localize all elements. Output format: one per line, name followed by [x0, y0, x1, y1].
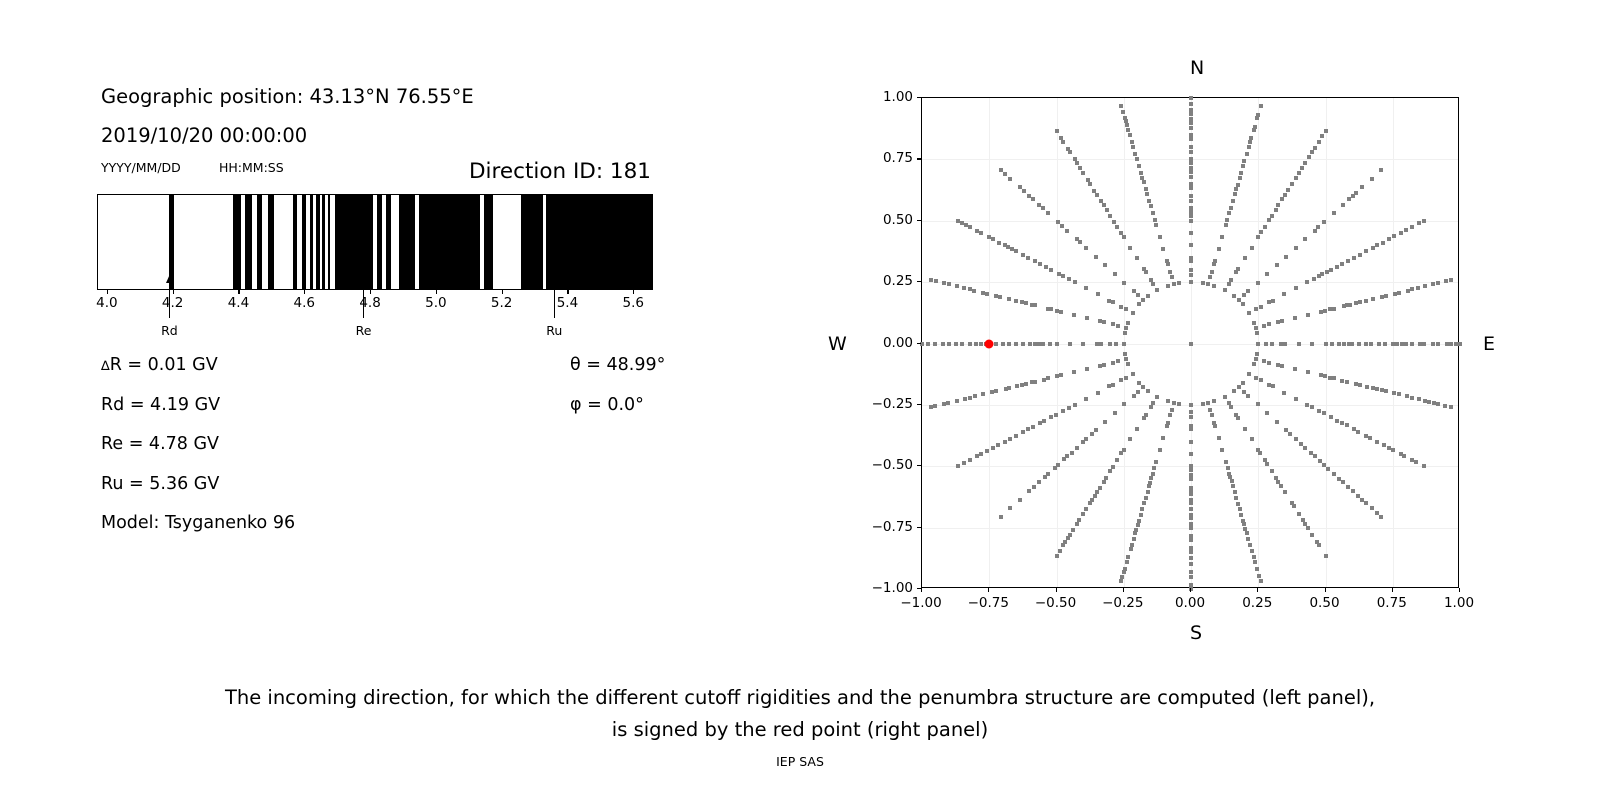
- sky-direction-dot: [1189, 468, 1193, 472]
- sky-direction-dot: [1048, 342, 1052, 346]
- sky-direction-dot: [1436, 281, 1440, 285]
- sky-direction-dot: [1037, 480, 1041, 484]
- sky-direction-dot: [960, 221, 964, 225]
- sky-direction-dot: [1293, 316, 1297, 320]
- figure-caption: The incoming direction, for which the di…: [0, 682, 1600, 746]
- sky-direction-dot: [1201, 281, 1205, 285]
- sky-direction-dot: [1360, 185, 1364, 189]
- sky-direction-dot: [1237, 298, 1241, 302]
- sky-direction-dot: [1324, 342, 1328, 346]
- sky-direction-dot: [1328, 376, 1332, 380]
- parameter-row: Rd = 4.19 GVφ = 0.0°: [101, 395, 671, 435]
- compass-west-label: W: [828, 333, 847, 355]
- sky-direction-dot: [1400, 342, 1404, 346]
- sky-direction-dot: [1189, 538, 1193, 542]
- sky-direction-dot: [1301, 518, 1305, 522]
- parameter-right-value: θ = 48.99°: [570, 355, 665, 375]
- sky-direction-dot: [1292, 504, 1296, 508]
- sky-direction-dot: [1384, 294, 1388, 298]
- sky-direction-dot: [1189, 112, 1193, 116]
- sky-direction-dot: [1210, 413, 1214, 417]
- sky-direction-dot: [1189, 175, 1193, 179]
- sky-direction-dot: [1189, 415, 1193, 419]
- sky-direction-dot: [1142, 180, 1146, 184]
- sky-direction-dot: [1397, 291, 1401, 295]
- sky-direction-dot: [1166, 284, 1170, 288]
- sky-direction-dot: [1220, 235, 1224, 239]
- sky-direction-dot: [1115, 225, 1119, 229]
- rigidity-tick-mark: [173, 290, 174, 294]
- sky-direction-dot: [1267, 322, 1271, 326]
- sky-direction-dot: [947, 282, 951, 286]
- sky-direction-dot: [994, 342, 998, 346]
- sky-direction-dot: [1136, 293, 1140, 297]
- sky-direction-dot: [1116, 359, 1120, 363]
- sky-direction-dot: [1387, 237, 1391, 241]
- sky-direction-dot: [1081, 171, 1085, 175]
- sky-y-tick-label: −1.00: [855, 580, 913, 596]
- sky-direction-dot: [1062, 457, 1066, 461]
- sky-direction-dot: [1126, 321, 1130, 325]
- sky-direction-dot: [1170, 408, 1174, 412]
- sky-direction-dot: [1232, 389, 1236, 393]
- sky-direction-dot: [1382, 443, 1386, 447]
- sky-direction-dot: [1168, 270, 1172, 274]
- sky-direction-dot: [1014, 249, 1018, 253]
- sky-direction-dot: [1006, 245, 1010, 249]
- sky-direction-dot: [1241, 302, 1245, 306]
- sky-direction-dot: [1337, 477, 1341, 481]
- sky-direction-dot: [1108, 214, 1112, 218]
- sky-direction-dot: [1229, 405, 1233, 409]
- sky-direction-dot: [1060, 224, 1064, 228]
- sky-direction-dot: [1133, 152, 1137, 156]
- sky-direction-dot: [1041, 206, 1045, 210]
- sky-direction-dot: [1189, 133, 1193, 137]
- sky-direction-dot: [1055, 554, 1059, 558]
- sky-direction-dot: [1140, 176, 1144, 180]
- sky-direction-dot: [1166, 262, 1170, 266]
- penumbra-forbidden-band: [328, 195, 331, 289]
- sky-direction-dot: [1341, 480, 1345, 484]
- sky-direction-dot: [1166, 399, 1170, 403]
- sky-direction-dot: [1149, 405, 1153, 409]
- sky-y-tick-mark: [917, 281, 921, 282]
- sky-direction-dot: [1189, 342, 1193, 346]
- sky-direction-dot: [934, 279, 938, 283]
- sky-direction-dot: [1028, 342, 1032, 346]
- sky-direction-dot: [955, 284, 959, 288]
- sky-direction-dot: [1078, 166, 1082, 170]
- sky-direction-dot: [1212, 399, 1216, 403]
- sky-direction-dot: [1208, 275, 1212, 279]
- sky-direction-dot: [1254, 357, 1258, 361]
- sky-direction-dot: [1391, 448, 1395, 452]
- penumbra-forbidden-band: [293, 195, 297, 289]
- sky-direction-dot: [1252, 555, 1256, 559]
- sky-direction-dot: [1135, 157, 1139, 161]
- sky-direction-dot: [1384, 389, 1388, 393]
- sky-direction-dot: [1364, 342, 1368, 346]
- sky-direction-dot: [1122, 342, 1126, 346]
- datetime-label: 2019/10/20 00:00:00: [101, 124, 307, 147]
- sky-direction-dot: [1057, 272, 1061, 276]
- parameter-row: Ru = 5.36 GV: [101, 474, 671, 514]
- direction-id-label: Direction ID: 181: [469, 159, 651, 184]
- sky-direction-dot: [1046, 211, 1050, 215]
- sky-direction-dot: [1303, 446, 1307, 450]
- sky-direction-dot: [1189, 562, 1193, 566]
- sky-direction-dot: [1427, 400, 1431, 404]
- sky-direction-dot: [1111, 383, 1115, 387]
- sky-direction-dot: [1254, 376, 1258, 380]
- sky-direction-dot: [1111, 361, 1115, 365]
- sky-y-tick-mark: [917, 220, 921, 221]
- penumbra-forbidden-band: [419, 195, 480, 289]
- sky-direction-dot: [963, 397, 967, 401]
- sky-direction-dot: [1139, 171, 1143, 175]
- sky-direction-dot: [1247, 145, 1251, 149]
- sky-direction-dot: [1128, 133, 1132, 137]
- sky-direction-dot: [1119, 378, 1123, 382]
- sky-direction-dot: [1131, 145, 1135, 149]
- sky-direction-dot: [1124, 376, 1128, 380]
- sky-direction-dot: [962, 461, 966, 465]
- sky-direction-dot: [991, 446, 995, 450]
- sky-direction-dot: [1111, 322, 1115, 326]
- sky-direction-dot: [1085, 367, 1089, 371]
- sky-direction-dot: [1189, 117, 1193, 121]
- sky-direction-dot: [1189, 210, 1193, 214]
- sky-direction-dot: [1146, 294, 1150, 298]
- sky-direction-dot: [1255, 116, 1259, 120]
- sky-x-tick-label: 0.50: [1309, 595, 1339, 611]
- sky-direction-dot: [1085, 316, 1089, 320]
- sky-direction-dot: [1265, 462, 1269, 466]
- sky-direction-dot: [1068, 342, 1072, 346]
- sky-direction-dot: [1130, 140, 1134, 144]
- sky-direction-dot: [1042, 419, 1046, 423]
- sky-direction-dot: [1410, 225, 1414, 229]
- sky-direction-dot: [1223, 395, 1227, 399]
- sky-direction-dot: [1247, 372, 1251, 376]
- sky-direction-dot: [955, 399, 959, 403]
- sky-direction-dot: [1189, 102, 1193, 106]
- sky-direction-dot: [1315, 540, 1319, 544]
- sky-direction-dot: [1243, 527, 1247, 531]
- sky-direction-dot: [1324, 129, 1328, 133]
- sky-direction-dot: [1392, 391, 1396, 395]
- sky-direction-dot: [1212, 421, 1216, 425]
- sky-direction-dot: [954, 342, 958, 346]
- parameter-row: Model: Tsyganenko 96: [101, 513, 671, 553]
- rigidity-tick-mark: [502, 290, 503, 294]
- rigidity-tick-label: 4.2: [162, 295, 183, 311]
- sky-direction-dot: [1084, 246, 1088, 250]
- sky-direction-dot: [1137, 164, 1141, 168]
- penumbra-band: [97, 194, 653, 290]
- sky-direction-dot: [1007, 342, 1011, 346]
- penumbra-forbidden-band: [386, 195, 391, 289]
- sky-direction-dot: [1231, 199, 1235, 203]
- penumbra-forbidden-band: [399, 195, 415, 289]
- selected-direction-point[interactable]: [985, 339, 994, 348]
- sky-x-tick-label: 0.75: [1377, 595, 1407, 611]
- sky-direction-dot: [1189, 273, 1193, 277]
- rigidity-tick-mark: [633, 290, 634, 294]
- sky-direction-dot: [1212, 284, 1216, 288]
- sky-direction-dot: [1377, 342, 1381, 346]
- sky-direction-dot: [968, 458, 972, 462]
- sky-x-tick-label: 0.25: [1242, 595, 1272, 611]
- sky-direction-dot: [979, 342, 983, 346]
- sky-direction-dot: [1010, 247, 1014, 251]
- sky-direction-dot: [1246, 394, 1250, 398]
- sky-direction-dot: [1246, 537, 1250, 541]
- sky-direction-dot: [1322, 411, 1326, 415]
- sky-direction-dot: [1044, 265, 1048, 269]
- sky-direction-dot: [1248, 140, 1252, 144]
- sky-direction-dot: [1004, 387, 1008, 391]
- sky-direction-dot: [1008, 177, 1012, 181]
- sky-direction-dot: [1059, 373, 1063, 377]
- sky-direction-dot: [1072, 313, 1076, 317]
- sky-direction-dot: [1063, 540, 1067, 544]
- delta-symbol: ∆: [101, 359, 110, 374]
- sky-direction-dot: [1371, 297, 1375, 301]
- sky-direction-dot: [1313, 454, 1317, 458]
- sky-direction-dot: [1335, 265, 1339, 269]
- sky-direction-dot: [1151, 282, 1155, 286]
- sky-direction-dot: [1252, 362, 1256, 366]
- sky-direction-dot: [933, 342, 937, 346]
- sky-direction-dot: [1364, 249, 1368, 253]
- sky-direction-dot: [1032, 485, 1036, 489]
- sky-direction-dot: [1065, 229, 1069, 233]
- sky-direction-dot: [1053, 466, 1057, 470]
- sky-direction-dot: [1345, 423, 1349, 427]
- sky-direction-dot: [1084, 397, 1088, 401]
- sky-direction-dot: [1145, 192, 1149, 196]
- sky-direction-dot: [1099, 199, 1103, 203]
- sky-direction-dot: [1294, 437, 1298, 441]
- sky-y-tick-label: −0.75: [855, 519, 913, 535]
- sky-direction-dot: [1267, 383, 1271, 387]
- sky-direction-dot: [1449, 278, 1453, 282]
- sky-direction-dot: [1043, 475, 1047, 479]
- sky-direction-dot: [1256, 113, 1260, 117]
- sky-direction-dot: [1061, 543, 1065, 547]
- sky-direction-dot: [1257, 574, 1261, 578]
- rigidity-tick-mark: [567, 290, 568, 294]
- rigidity-axis: 4.04.24.44.64.85.05.25.45.6RdReRu: [97, 290, 653, 350]
- sky-x-tick-mark: [1325, 588, 1326, 592]
- rigidity-tick-mark: [107, 290, 108, 294]
- sky-direction-dot: [975, 229, 979, 233]
- sky-direction-dot: [1410, 287, 1414, 291]
- rigidity-tick-label: 4.0: [96, 295, 117, 311]
- sky-direction-dot: [1245, 531, 1249, 535]
- sky-direction-dot: [1152, 466, 1156, 470]
- sky-direction-dot: [1369, 342, 1373, 346]
- sky-direction-dot: [1241, 381, 1245, 385]
- sky-direction-dot: [1092, 189, 1096, 193]
- sky-direction-dot: [1310, 342, 1314, 346]
- sky-direction-dot: [1253, 125, 1257, 129]
- sky-direction-dot: [1227, 211, 1231, 215]
- sky-y-tick-mark: [917, 343, 921, 344]
- parameter-left-value: Rd = 4.19 GV: [101, 395, 220, 415]
- sky-direction-dot: [996, 443, 1000, 447]
- sky-direction-dot: [1259, 305, 1263, 309]
- sky-direction-dot: [1303, 161, 1307, 165]
- sky-direction-dot: [1422, 219, 1426, 223]
- sky-direction-dot: [1238, 176, 1242, 180]
- sky-direction-dot: [1317, 140, 1321, 144]
- sky-direction-dot: [1189, 214, 1193, 218]
- sky-direction-dot: [1431, 342, 1435, 346]
- sky-direction-dot: [1007, 386, 1011, 390]
- sky-direction-dot: [1030, 303, 1034, 307]
- sky-direction-dot: [1236, 502, 1240, 506]
- sky-direction-dot: [1283, 490, 1287, 494]
- sky-direction-dot: [1122, 402, 1126, 406]
- sky-direction-dot: [1395, 342, 1399, 346]
- sky-direction-dot: [973, 394, 977, 398]
- sky-direction-dot: [1014, 434, 1018, 438]
- sky-direction-dot: [1078, 240, 1082, 244]
- sky-direction-dot: [1189, 516, 1193, 520]
- sky-direction-dot: [1265, 411, 1269, 415]
- sky-direction-dot: [1432, 401, 1436, 405]
- sky-direction-dot: [985, 449, 989, 453]
- sky-direction-dot: [1305, 280, 1309, 284]
- sky-direction-dot: [1206, 401, 1210, 405]
- sky-direction-dot: [1103, 420, 1107, 424]
- sky-direction-dot: [1354, 191, 1358, 195]
- sky-direction-dot: [1189, 403, 1193, 407]
- sky-direction-dot: [1224, 460, 1228, 464]
- sky-direction-dot: [1065, 454, 1069, 458]
- sky-direction-dot: [1104, 476, 1108, 480]
- sky-direction-dot: [1027, 489, 1031, 493]
- sky-direction-dot: [1139, 513, 1143, 517]
- sky-y-tick-label: 0.75: [855, 150, 913, 166]
- sky-x-tick-mark: [1190, 588, 1191, 592]
- parameter-right-value: φ = 0.0°: [570, 395, 644, 415]
- sky-direction-dots: [922, 98, 1458, 587]
- sky-direction-dot: [1144, 187, 1148, 191]
- footer-credit: IEP SAS: [0, 754, 1600, 769]
- sky-direction-dot: [1234, 187, 1238, 191]
- sky-direction-dot: [1103, 263, 1107, 267]
- sky-plot-frame: [921, 97, 1459, 588]
- sky-direction-dot: [1303, 237, 1307, 241]
- sky-direction-dot: [1061, 274, 1065, 278]
- sky-direction-dot: [1404, 342, 1408, 346]
- sky-direction-dot: [1234, 270, 1238, 274]
- sky-direction-dot: [1443, 404, 1447, 408]
- sky-direction-dot: [1354, 301, 1358, 305]
- sky-direction-dot: [1149, 204, 1153, 208]
- sky-direction-dot: [1250, 437, 1254, 441]
- sky-direction-dot: [1454, 342, 1458, 346]
- sky-direction-dot: [1263, 225, 1267, 229]
- sky-direction-dot: [1189, 440, 1193, 444]
- sky-direction-dot: [1340, 262, 1344, 266]
- sky-direction-dot: [1213, 424, 1217, 428]
- sky-direction-dot: [1189, 186, 1193, 190]
- penumbra-forbidden-band: [322, 195, 325, 289]
- sky-direction-dot: [1111, 465, 1115, 469]
- sky-direction-dot: [1309, 451, 1313, 455]
- sky-direction-dot: [1055, 309, 1059, 313]
- sky-y-tick-mark: [917, 97, 921, 98]
- parameter-left-value: Ru = 5.36 GV: [101, 474, 219, 494]
- sky-direction-dot: [1276, 320, 1280, 324]
- sky-direction-dot: [1061, 409, 1065, 413]
- sky-direction-dot: [1038, 262, 1042, 266]
- sky-direction-dot: [1003, 172, 1007, 176]
- sky-direction-dot: [1128, 437, 1132, 441]
- sky-direction-dot: [1189, 498, 1193, 502]
- sky-direction-dot: [1141, 385, 1145, 389]
- sky-direction-dot: [1102, 320, 1106, 324]
- sky-direction-dot: [1148, 481, 1152, 485]
- sky-direction-dot: [1280, 364, 1284, 368]
- sky-direction-dot: [1059, 136, 1063, 140]
- sky-direction-dot: [1316, 225, 1320, 229]
- sky-direction-dot: [1105, 208, 1109, 212]
- sky-direction-dot: [1346, 259, 1350, 263]
- rigidity-tick-mark: [436, 290, 437, 294]
- sky-direction-dot: [1402, 454, 1406, 458]
- sky-direction-dot: [1077, 518, 1081, 522]
- sky-direction-dot: [1088, 182, 1092, 186]
- sky-direction-dot: [999, 515, 1003, 519]
- sky-direction-dot: [1341, 203, 1345, 207]
- sky-direction-dot: [1280, 197, 1284, 201]
- sky-direction-dot: [1122, 281, 1126, 285]
- sky-direction-dot: [1119, 451, 1123, 455]
- sky-direction-dot: [1142, 501, 1146, 505]
- sky-direction-dot: [1189, 96, 1193, 100]
- sky-direction-dot: [1189, 280, 1193, 284]
- sky-direction-dot: [1282, 292, 1286, 296]
- sky-direction-dot: [1249, 136, 1253, 140]
- sky-direction-dot: [1189, 501, 1193, 505]
- sky-direction-dot: [1095, 193, 1099, 197]
- sky-direction-dot: [1008, 506, 1012, 510]
- sky-direction-dot: [1116, 324, 1120, 328]
- sky-x-tick-mark: [1056, 588, 1057, 592]
- sky-direction-dot: [1264, 342, 1268, 346]
- sky-direction-dot: [1262, 324, 1266, 328]
- sky-direction-dot: [1124, 357, 1128, 361]
- rigidity-tick-mark: [304, 290, 305, 294]
- cutoff-arrow-rd: [169, 274, 170, 318]
- sky-direction-dot: [1357, 342, 1361, 346]
- sky-direction-dot: [1313, 146, 1317, 150]
- sky-direction-dot: [1189, 526, 1193, 530]
- sky-direction-dot: [1255, 567, 1259, 571]
- sky-direction-dot: [1306, 526, 1310, 530]
- sky-direction-dot: [1114, 342, 1118, 346]
- sky-y-tick-label: 0.50: [855, 212, 913, 228]
- sky-direction-dot: [1347, 197, 1351, 201]
- sky-direction-dot: [1042, 378, 1046, 382]
- sky-direction-dot: [1037, 342, 1041, 346]
